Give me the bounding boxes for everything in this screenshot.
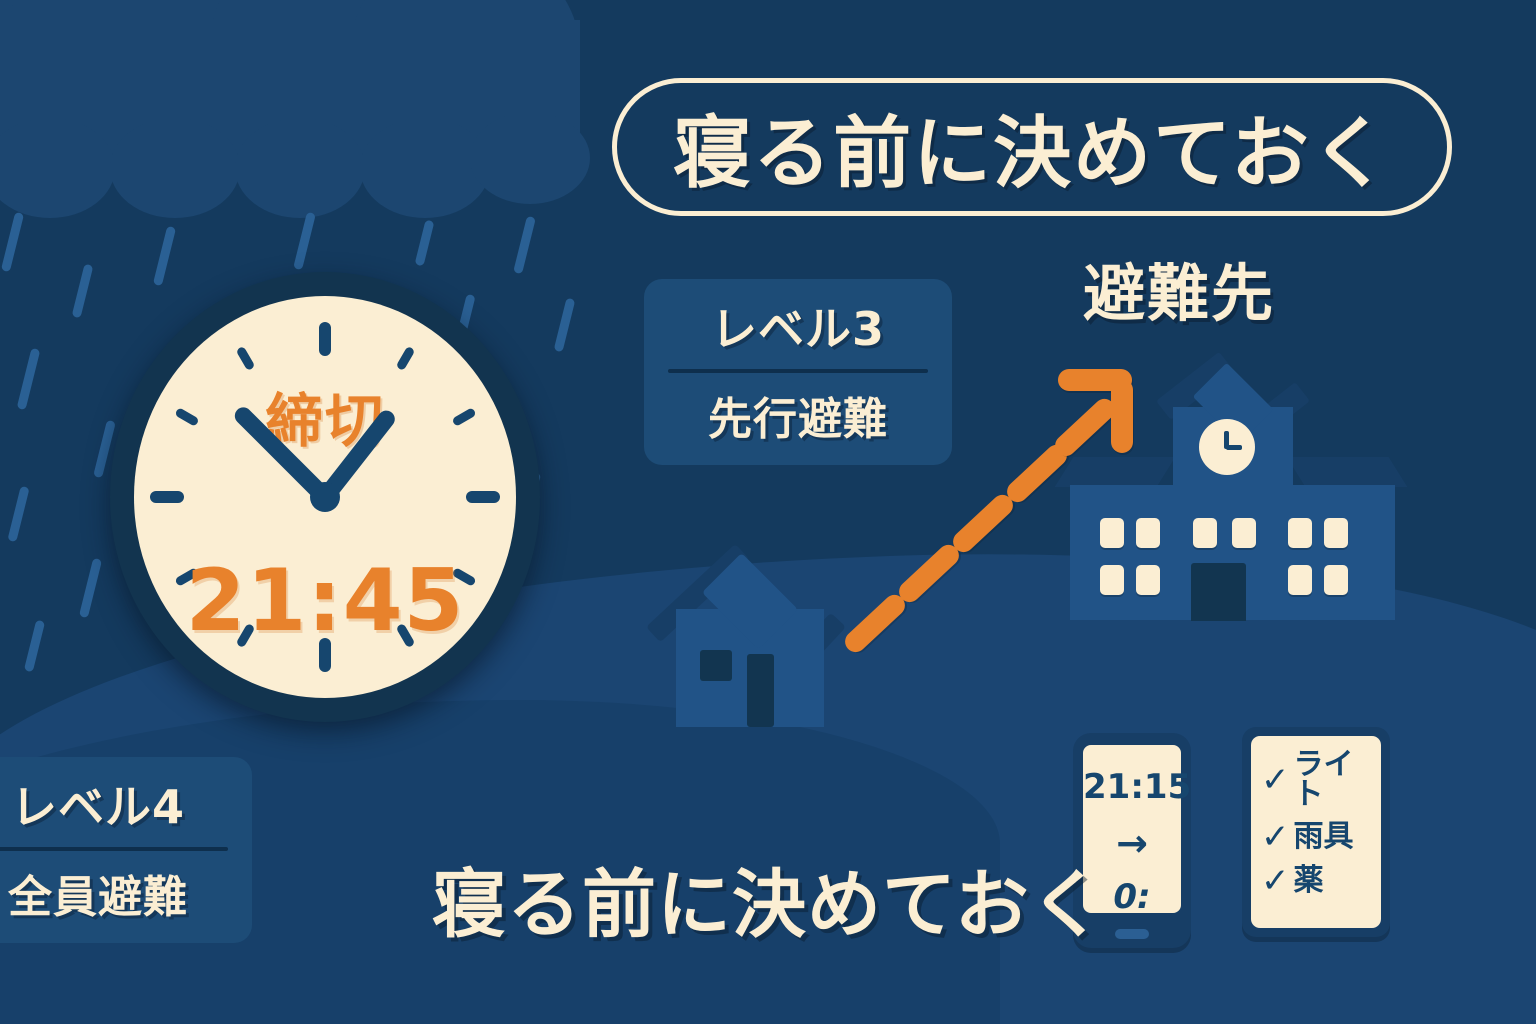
clock-digital-time: 21:45 xyxy=(134,551,516,651)
checklist-item-label: 雨具 xyxy=(1294,822,1354,852)
badge-level-4-title: レベル4 xyxy=(0,771,230,837)
school-window xyxy=(1324,565,1348,595)
page-title: 寝る前に決めておく xyxy=(673,91,1391,203)
clock-tick xyxy=(236,346,256,371)
checklist-item-label: ライト xyxy=(1294,750,1382,810)
infographic-canvas: 寝る前に決めておく 締切 21:45 レベル3 xyxy=(0,0,1536,1024)
title-pill: 寝る前に決めておく xyxy=(612,78,1452,216)
school-window xyxy=(1288,518,1312,548)
clock-tick xyxy=(150,491,184,503)
house-icon xyxy=(650,565,850,730)
check-icon: ✓ xyxy=(1261,820,1290,854)
house-window xyxy=(700,650,732,681)
school-window xyxy=(1232,518,1256,548)
checklist-item[interactable]: ✓ ライト xyxy=(1261,750,1381,810)
badge-level-4: レベル4 全員避難 xyxy=(0,757,252,943)
phone-home-button[interactable] xyxy=(1115,929,1149,939)
bottom-caption: 寝る前に決めておく xyxy=(432,845,1105,952)
rain-cloud-icon xyxy=(0,0,660,220)
clock-face: 締切 21:45 xyxy=(134,296,516,698)
checklist-item-label: 薬 xyxy=(1294,866,1324,896)
clock-deadline-label: 締切 xyxy=(134,374,516,458)
evacuation-route-arrow xyxy=(830,355,1140,655)
phone-time-from: 21:15 xyxy=(1083,767,1181,807)
badge-level-3-title: レベル3 xyxy=(666,293,930,359)
check-icon: ✓ xyxy=(1261,763,1290,797)
checklist-card: ✓ ライト ✓ 雨具 ✓ 薬 xyxy=(1242,727,1390,937)
school-door xyxy=(1191,563,1246,621)
checklist-item[interactable]: ✓ 雨具 xyxy=(1261,820,1381,854)
badge-level-4-subtitle: 全員避難 xyxy=(0,861,230,925)
deadline-clock: 締切 21:45 xyxy=(110,272,540,722)
clock-tick xyxy=(396,346,416,371)
arrow-head xyxy=(1111,379,1133,453)
destination-label: 避難先 xyxy=(1083,243,1275,333)
school-window xyxy=(1193,518,1217,548)
clock-tick xyxy=(466,491,500,503)
clock-center-hub xyxy=(310,482,340,512)
school-window xyxy=(1288,565,1312,595)
house-door xyxy=(747,654,774,727)
school-window xyxy=(1324,518,1348,548)
badge-divider xyxy=(0,847,228,851)
checklist-surface: ✓ ライト ✓ 雨具 ✓ 薬 xyxy=(1251,736,1381,928)
checklist-item[interactable]: ✓ 薬 xyxy=(1261,864,1381,898)
school-clock-hands-icon xyxy=(1199,419,1255,475)
check-icon: ✓ xyxy=(1261,864,1290,898)
clock-tick xyxy=(319,322,331,356)
